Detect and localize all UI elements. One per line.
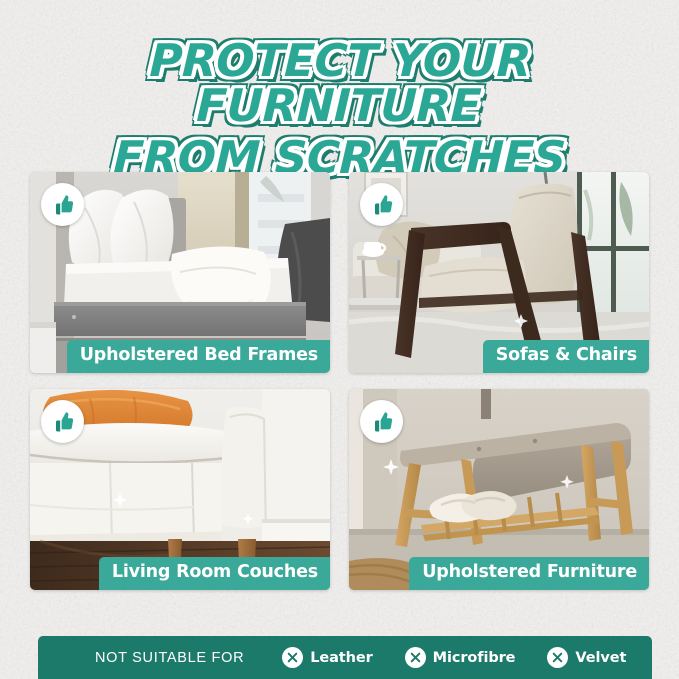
x-circle-icon bbox=[405, 647, 426, 668]
thumbs-up-badge bbox=[360, 400, 403, 443]
card-upholstered-furniture[interactable]: Upholstered Furniture bbox=[349, 389, 649, 590]
card-caption: Sofas & Chairs bbox=[483, 340, 649, 373]
thumbs-up-icon bbox=[51, 193, 75, 217]
card-living-room-couches[interactable]: Living Room Couches bbox=[30, 389, 330, 590]
not-suitable-item-label: Velvet bbox=[575, 650, 626, 666]
card-caption: Upholstered Furniture bbox=[409, 557, 649, 590]
not-suitable-item-label: Microfibre bbox=[433, 650, 516, 666]
card-upholstered-bed-frames[interactable]: Upholstered Bed Frames bbox=[30, 172, 330, 373]
not-suitable-item-label: Leather bbox=[310, 650, 372, 666]
headline-line-1: PROTECT YOUR FURNITURE bbox=[0, 38, 679, 128]
not-suitable-item-leather: Leather bbox=[282, 647, 372, 668]
thumbs-up-badge bbox=[41, 183, 84, 226]
not-suitable-item-microfibre: Microfibre bbox=[405, 647, 516, 668]
thumbs-up-badge bbox=[360, 183, 403, 226]
not-suitable-for-bar: NOT SUITABLE FOR Leather Microfibre bbox=[38, 636, 652, 679]
not-suitable-items: Leather Microfibre Velvet bbox=[282, 647, 626, 668]
card-caption: Upholstered Bed Frames bbox=[67, 340, 330, 373]
page-title: PROTECT YOUR FURNITURE FROM SCRATCHES bbox=[0, 38, 679, 180]
not-suitable-item-velvet: Velvet bbox=[547, 647, 626, 668]
x-circle-icon bbox=[547, 647, 568, 668]
thumbs-up-icon bbox=[370, 410, 394, 434]
x-circle-icon bbox=[282, 647, 303, 668]
not-suitable-for-label: NOT SUITABLE FOR bbox=[95, 650, 244, 666]
card-caption: Living Room Couches bbox=[99, 557, 330, 590]
feature-card-grid: Upholstered Bed Frames bbox=[30, 172, 649, 590]
thumbs-up-badge bbox=[41, 400, 84, 443]
thumbs-up-icon bbox=[370, 193, 394, 217]
card-sofas-and-chairs[interactable]: Sofas & Chairs bbox=[349, 172, 649, 373]
thumbs-up-icon bbox=[51, 410, 75, 434]
